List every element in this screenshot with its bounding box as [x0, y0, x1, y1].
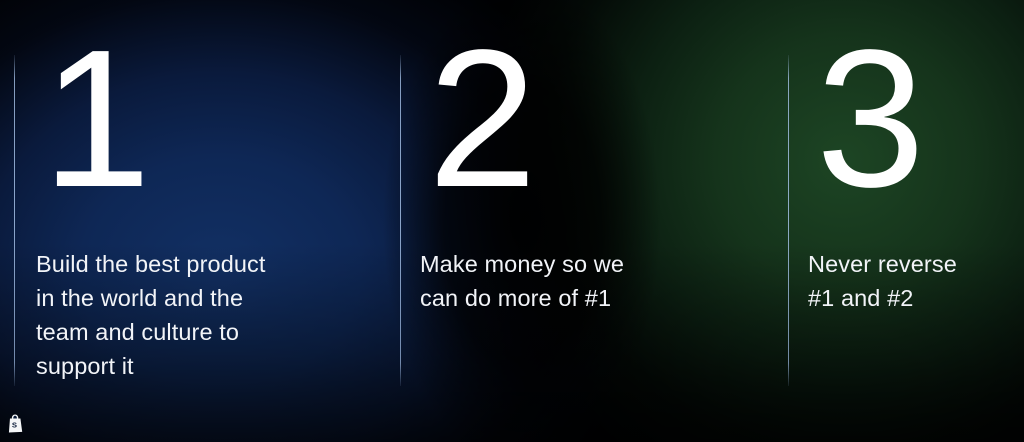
column-numeral-3: 3 [816, 21, 923, 217]
column-three: 3 Never reverse #1 and #2 [788, 55, 1018, 386]
presentation-slide: 1 Build the best product in the world an… [0, 0, 1024, 442]
column-numeral-1: 1 [42, 21, 149, 217]
column-two: 2 Make money so we can do more of #1 [400, 55, 774, 386]
column-text-3: Never reverse #1 and #2 [808, 247, 957, 315]
column-divider-line [400, 55, 401, 386]
column-divider-line [14, 55, 15, 386]
columns-container: 1 Build the best product in the world an… [0, 0, 1024, 442]
column-one: 1 Build the best product in the world an… [14, 55, 386, 386]
column-text-2: Make money so we can do more of #1 [420, 247, 624, 315]
column-numeral-2: 2 [428, 21, 535, 217]
shopify-bag-icon: S [8, 414, 25, 433]
svg-text:S: S [12, 420, 17, 429]
column-divider-line [788, 55, 789, 386]
column-text-1: Build the best product in the world and … [36, 247, 266, 383]
